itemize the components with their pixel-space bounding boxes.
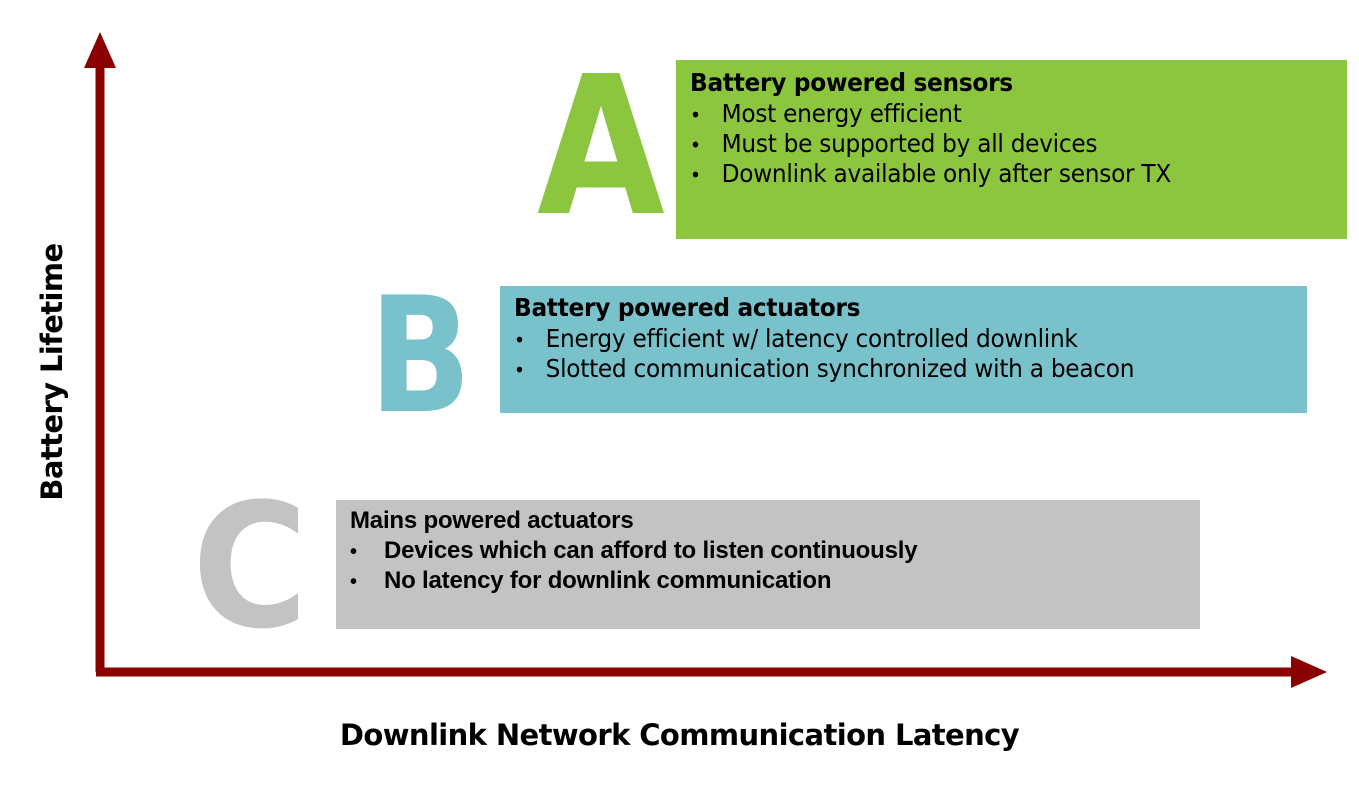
bullet-label: Energy efficient w/ latency controlled d… [546, 324, 1078, 353]
bullet-icon: • [514, 330, 546, 350]
y-axis-arrowhead [84, 32, 116, 68]
tier-a-bullet-2: • Must be supported by all devices [690, 129, 1301, 158]
tier-letter-b: B [369, 276, 471, 436]
tier-letter-c: C [192, 481, 308, 653]
bullet-icon: • [514, 360, 546, 380]
tier-b-bullet-1: • Energy efficient w/ latency controlled… [514, 324, 1251, 353]
bullet-label: Slotted communication synchronized with … [546, 354, 1135, 383]
bullet-label: Most energy efficient [722, 99, 962, 128]
tier-a-bullet-3: • Downlink available only after sensor T… [690, 159, 1301, 188]
bullet-icon: • [690, 105, 722, 125]
tier-c-heading: Mains powered actuators [350, 507, 1200, 535]
x-axis-arrowhead [1291, 656, 1327, 688]
bullet-label: No latency for downlink communication [384, 567, 831, 595]
diagram-canvas: Battery Lifetime Downlink Network Commun… [0, 0, 1359, 798]
bullet-icon: • [690, 135, 722, 155]
bullet-label: Devices which can afford to listen conti… [384, 537, 917, 565]
tier-box-c[interactable]: Mains powered actuators • Devices which … [336, 500, 1200, 629]
x-axis-label: Downlink Network Communication Latency [0, 718, 1359, 752]
tier-box-b[interactable]: Battery powered actuators • Energy effic… [500, 286, 1307, 413]
bullet-icon: • [690, 165, 722, 185]
tier-box-a[interactable]: Battery powered sensors • Most energy ef… [676, 60, 1347, 239]
bullet-label: Downlink available only after sensor TX [722, 159, 1171, 188]
tier-b-heading: Battery powered actuators [514, 293, 1251, 322]
tier-c-bullet-2: • No latency for downlink communication [350, 567, 1200, 595]
tier-b-bullet-2: • Slotted communication synchronized wit… [514, 354, 1251, 383]
y-axis-label: Battery Lifetime [35, 202, 69, 542]
tier-c-bullet-1: • Devices which can afford to listen con… [350, 537, 1200, 565]
bullet-icon: • [350, 542, 384, 562]
bullet-icon: • [350, 572, 384, 592]
tier-letter-a: A [537, 52, 665, 244]
tier-a-heading: Battery powered sensors [690, 68, 1301, 97]
bullet-label: Must be supported by all devices [722, 129, 1098, 158]
tier-a-bullet-1: • Most energy efficient [690, 99, 1301, 128]
